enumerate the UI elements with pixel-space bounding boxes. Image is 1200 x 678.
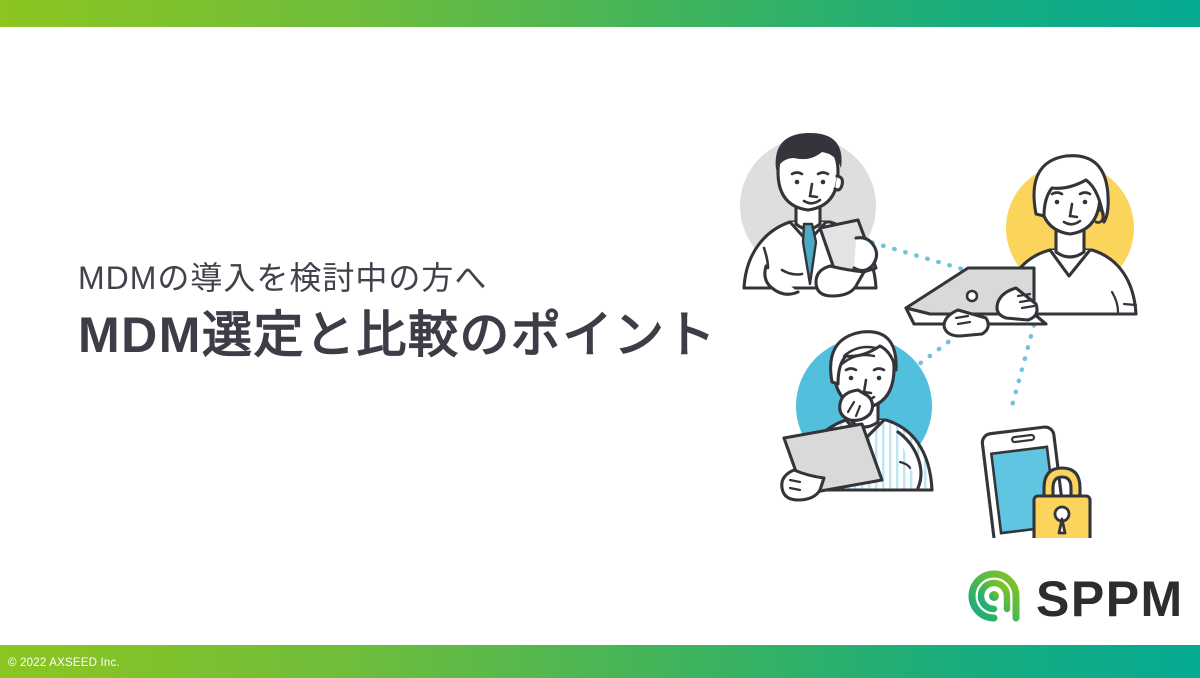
slide-subtitle: MDMの導入を検討中の方へ bbox=[78, 258, 717, 298]
sppm-logo-text: SPPM bbox=[1036, 574, 1184, 624]
node-secured-smartphone bbox=[981, 426, 1090, 538]
sppm-signal-mark-icon bbox=[966, 568, 1022, 629]
node-person-with-tablet bbox=[782, 332, 932, 500]
illustration-mdm-network bbox=[700, 118, 1180, 538]
connector-laptop-to-secure-phone bbox=[1012, 314, 1037, 406]
copyright-text: © 2022 AXSEED Inc. bbox=[8, 657, 120, 669]
slide-canvas: MDMの導入を検討中の方へ MDM選定と比較のポイント bbox=[0, 0, 1200, 678]
node-person-with-smartphone bbox=[740, 133, 877, 296]
node-person-with-laptop bbox=[906, 156, 1136, 336]
bottom-gradient-bar bbox=[0, 645, 1200, 678]
headings-block: MDMの導入を検討中の方へ MDM選定と比較のポイント bbox=[78, 258, 717, 365]
top-gradient-bar bbox=[0, 0, 1200, 27]
sppm-logo: SPPM bbox=[966, 568, 1184, 629]
slide-title: MDM選定と比較のポイント bbox=[78, 306, 717, 365]
